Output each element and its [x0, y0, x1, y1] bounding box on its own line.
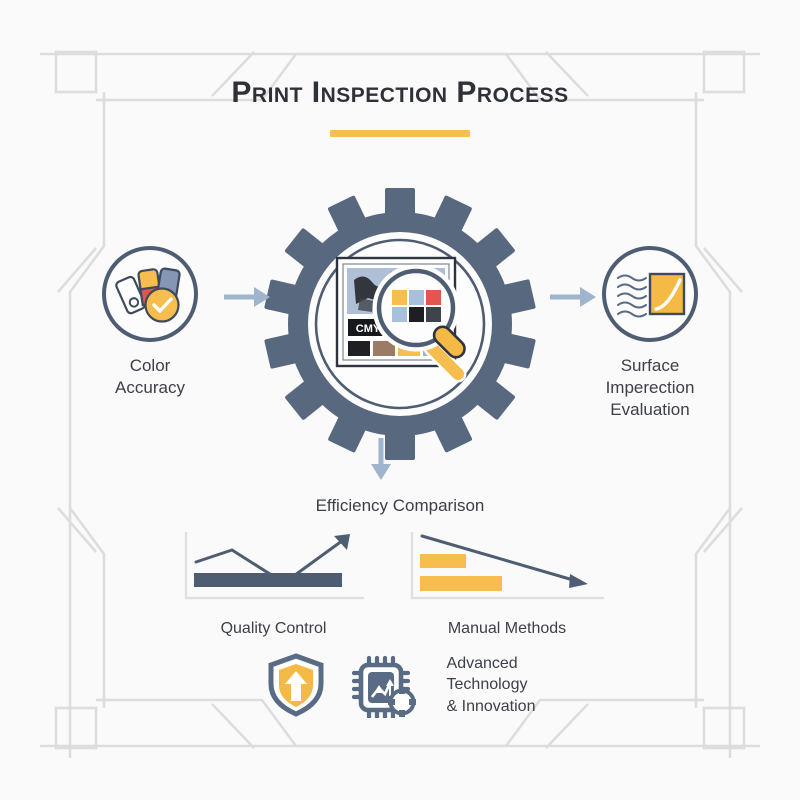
title-block: Print Inspection Process [0, 78, 800, 137]
node-surface-imperfection[interactable]: Surface Imperection Evaluation [552, 246, 748, 420]
node-surface-imperfection-circle [602, 246, 698, 342]
chart-quality-control[interactable]: Quality Control [166, 528, 381, 638]
arrow-gear-to-efficiency [366, 436, 396, 484]
page-title: Print Inspection Process [0, 78, 800, 108]
surface-waves-icon [606, 250, 694, 338]
center-gear-inspection[interactable]: CMYK [262, 186, 538, 462]
microchip-growth-gear-icon[interactable] [349, 652, 421, 718]
chart-manual-methods[interactable]: Manual Methods [392, 528, 622, 638]
node-surface-imperfection-label: Surface Imperection Evaluation [552, 355, 748, 420]
chart-manual-methods-caption: Manual Methods [392, 620, 622, 638]
arrow-color-to-gear [222, 282, 276, 312]
title-underline [330, 130, 470, 137]
quality-control-mini-chart [174, 528, 374, 606]
bottom-badges-row: Advanced Technology & Innovation [0, 652, 800, 718]
chart-quality-control-caption: Quality Control [166, 620, 381, 638]
gear-print-inspection-icon: CMYK [262, 186, 538, 462]
efficiency-comparison-title: Efficiency Comparison [0, 496, 800, 516]
infographic-canvas: Print Inspection Process [0, 0, 800, 800]
arrow-gear-to-surface [548, 282, 602, 312]
advanced-technology-text: Advanced Technology & Innovation [447, 653, 536, 718]
manual-methods-mini-chart [402, 528, 612, 606]
node-color-accuracy-circle [102, 246, 198, 342]
color-swatch-check-icon [106, 250, 194, 338]
node-color-accuracy[interactable]: Color Accuracy [52, 246, 248, 399]
node-color-accuracy-label: Color Accuracy [52, 355, 248, 399]
shield-up-arrow-icon[interactable] [265, 652, 327, 718]
